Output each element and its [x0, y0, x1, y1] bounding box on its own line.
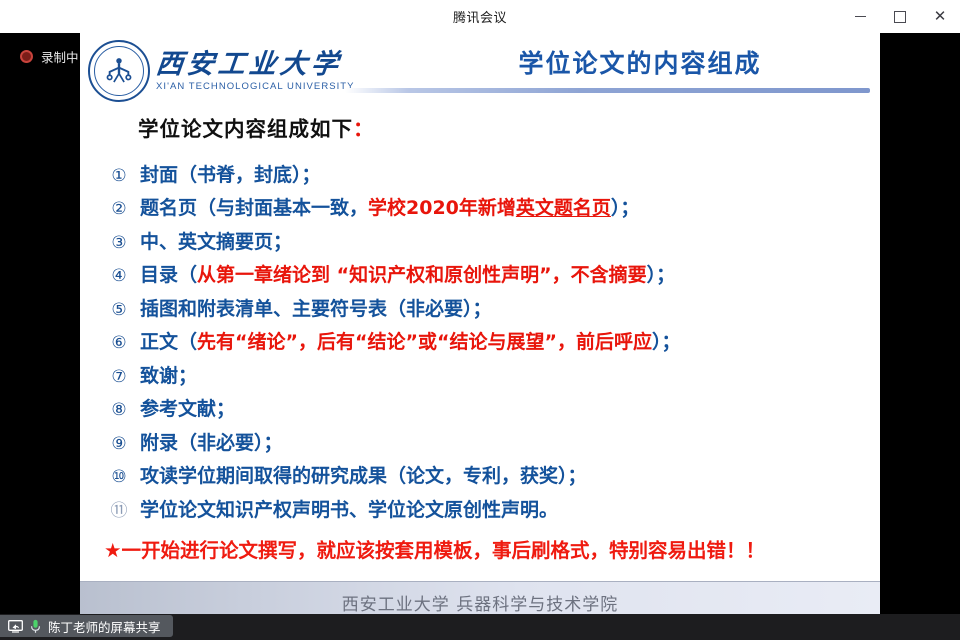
text-run: ）； — [652, 331, 681, 353]
screen-share-indicator[interactable]: 陈丁老师的屏幕共享 — [0, 615, 173, 637]
list-item-number: ⑥ — [108, 331, 130, 355]
list-item-number: ① — [108, 164, 130, 188]
minimize-button[interactable] — [840, 0, 880, 33]
list-item-number: ⑤ — [108, 298, 130, 322]
logo-name-cn: 西安工业大学 — [155, 50, 357, 78]
window-controls: ✕ — [840, 0, 960, 33]
list-item-text: 正文（先有“绪论”，后有“结论”或“结论与展望”，前后呼应）； — [140, 329, 680, 356]
list-item: ③中、英文摘要页； — [94, 229, 866, 256]
slide-lead-text: 学位论文内容组成如下 — [138, 117, 353, 141]
text-run: 学校2020年新增 — [368, 197, 516, 219]
list-item: ⑨附录（非必要）； — [94, 430, 866, 457]
list-item-text: 参考文献； — [140, 396, 235, 423]
slide-lead: 学位论文内容组成如下： — [138, 112, 866, 142]
list-item: ⑩攻读学位期间取得的研究成果（论文，专利，获奖）； — [94, 463, 866, 490]
title-bar: 腾讯会议 ✕ — [0, 0, 960, 34]
text-run: 学位论文知识产权声明书、学位论文原创性声明。 — [140, 499, 558, 521]
text-run: 先有“绪论”，后有“结论”或“结论与展望”，前后呼应 — [197, 331, 652, 353]
list-item-number: ④ — [108, 264, 130, 288]
recording-indicator: 录制中 — [20, 47, 79, 66]
slide-header: 西安工业大学 XI'AN TECHNOLOGICAL UNIVERSITY 学位… — [80, 30, 880, 110]
text-run: 致谢； — [140, 365, 197, 387]
list-item-number: ⑨ — [108, 432, 130, 456]
logo-name-en: XI'AN TECHNOLOGICAL UNIVERSITY — [156, 81, 355, 92]
text-run: 正文（ — [140, 331, 197, 353]
text-run: ）； — [647, 264, 676, 286]
text-run: 附录（非必要）； — [140, 432, 283, 454]
list-item: ①封面（书脊，封底）； — [94, 162, 866, 189]
text-run: 题名页（与封面基本一致， — [140, 197, 368, 219]
list-item: ④目录（从第一章绪论到 “知识产权和原创性声明”，不含摘要）； — [94, 262, 866, 289]
text-run: 英文题名页 — [516, 197, 611, 219]
list-item-text: 目录（从第一章绪论到 “知识产权和原创性声明”，不含摘要）； — [140, 262, 675, 289]
list-item: ⑥正文（先有“绪论”，后有“结论”或“结论与展望”，前后呼应）； — [94, 329, 866, 356]
list-item-text: 中、英文摘要页； — [140, 229, 292, 256]
shared-slide: 西安工业大学 XI'AN TECHNOLOGICAL UNIVERSITY 学位… — [80, 30, 880, 622]
text-run: 插图和附表清单、主要符号表（非必要）； — [140, 298, 492, 320]
minimize-icon — [855, 16, 866, 18]
slide-title: 学位论文的内容组成 — [410, 44, 870, 80]
title-divider — [345, 88, 870, 93]
list-item-number: ⑩ — [108, 465, 130, 489]
meeting-window: 腾讯会议 ✕ 录制中 — [0, 0, 960, 640]
maximize-button[interactable] — [880, 0, 920, 33]
list-item-text: 插图和附表清单、主要符号表（非必要）； — [140, 296, 492, 323]
list-item-number: ⑧ — [108, 398, 130, 422]
app-title: 腾讯会议 — [453, 7, 507, 26]
list-item: ⑤插图和附表清单、主要符号表（非必要）； — [94, 296, 866, 323]
content-list: ①封面（书脊，封底）；②题名页（与封面基本一致，学校2020年新增英文题名页）；… — [94, 162, 866, 524]
text-run: 攻读学位期间取得的研究成果（论文，专利，获奖）； — [140, 465, 587, 487]
slide-footer-text: 西安工业大学 兵器科学与技术学院 — [342, 590, 618, 615]
slide-body: 学位论文内容组成如下： ①封面（书脊，封底）；②题名页（与封面基本一致，学校20… — [80, 112, 880, 582]
list-item-number: ② — [108, 197, 130, 221]
list-item-number: ⑦ — [108, 365, 130, 389]
list-item-text: 题名页（与封面基本一致，学校2020年新增英文题名页）； — [140, 195, 639, 222]
list-item-text: 致谢； — [140, 363, 197, 390]
university-logo: 西安工业大学 XI'AN TECHNOLOGICAL UNIVERSITY — [88, 36, 353, 106]
text-run: 从第一章绪论到 “知识产权和原创性声明”，不含摘要 — [197, 264, 647, 286]
university-seal-icon — [88, 40, 150, 102]
screen-share-icon — [8, 620, 23, 633]
screen-share-label: 陈丁老师的屏幕共享 — [48, 617, 161, 636]
list-item-text: 附录（非必要）； — [140, 430, 283, 457]
list-item: ⑪学位论文知识产权声明书、学位论文原创性声明。 — [94, 497, 866, 524]
list-item-text: 攻读学位期间取得的研究成果（论文，专利，获奖）； — [140, 463, 587, 490]
list-item-number: ⑪ — [108, 499, 130, 523]
maximize-icon — [894, 11, 906, 23]
list-item: ②题名页（与封面基本一致，学校2020年新增英文题名页）； — [94, 195, 866, 222]
text-run: 中、英文摘要页； — [140, 231, 292, 253]
list-item: ⑧参考文献； — [94, 396, 866, 423]
text-run: 封面（书脊，封底）； — [140, 164, 321, 186]
record-dot-icon — [20, 50, 33, 63]
list-item-number: ③ — [108, 231, 130, 255]
list-item-text: 学位论文知识产权声明书、学位论文原创性声明。 — [140, 497, 558, 524]
warning-note: ★一开始进行论文撰写，就应该按套用模板，事后刷格式，特别容易出错！！ — [94, 534, 866, 563]
microphone-icon — [30, 619, 41, 634]
slide-lead-colon: ： — [353, 117, 375, 141]
share-bar: 陈丁老师的屏幕共享 — [0, 614, 960, 640]
recording-label: 录制中 — [41, 47, 79, 66]
close-icon: ✕ — [934, 9, 947, 24]
list-item: ⑦致谢； — [94, 363, 866, 390]
list-item-text: 封面（书脊，封底）； — [140, 162, 321, 189]
text-run: ）； — [611, 197, 640, 219]
close-button[interactable]: ✕ — [920, 0, 960, 33]
text-run: 参考文献； — [140, 398, 235, 420]
text-run: 目录（ — [140, 264, 197, 286]
